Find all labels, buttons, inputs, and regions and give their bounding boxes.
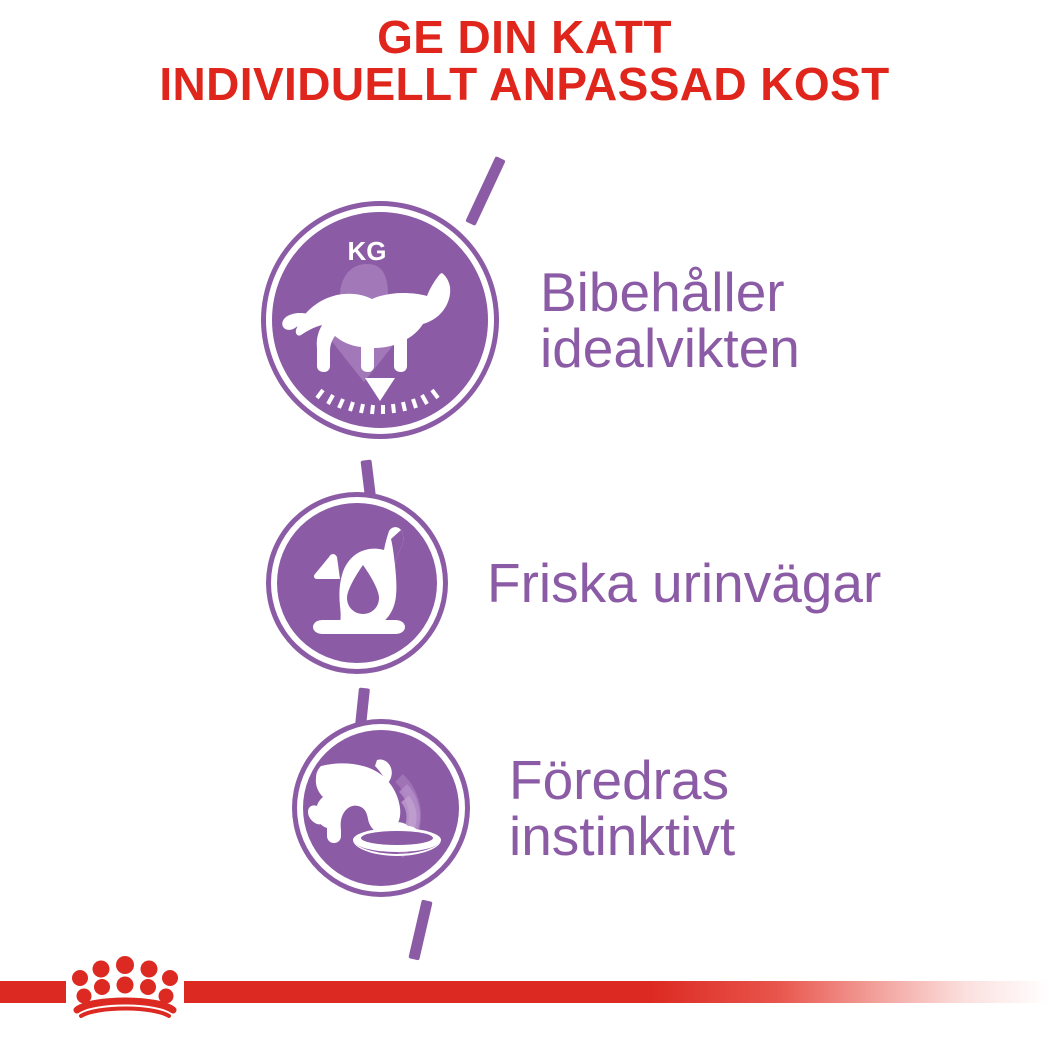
cat-with-water-droplet-icon <box>277 503 437 663</box>
feature-1-label: Bibehåller idealvikten <box>540 264 800 376</box>
feature-2-icon-circle <box>277 503 437 663</box>
title-line-2: INDIVIDUELLT ANPASSAD KOST <box>0 61 1049 108</box>
royal-canin-crown-logo <box>65 952 185 1022</box>
cat-on-weight-scale-icon: KG <box>272 212 488 428</box>
kg-badge-text: KG <box>348 236 387 266</box>
feature-2-label: Friska urinvägar <box>487 555 881 611</box>
feature-3-label: Föredras instinktivt <box>509 752 735 864</box>
cat-eating-from-bowl-icon <box>303 730 459 886</box>
feature-1-icon-circle: KG <box>272 212 488 428</box>
connector-dash-bottom <box>408 900 432 961</box>
connector-dash-1-2 <box>360 459 376 502</box>
page-title: GE DIN KATT INDIVIDUELLT ANPASSAD KOST <box>0 14 1049 109</box>
title-line-1: GE DIN KATT <box>0 14 1049 61</box>
crown-icon <box>65 952 185 1022</box>
feature-item-palatability: Föredras instinktivt <box>303 730 735 886</box>
feature-item-urinary-health: Friska urinvägar <box>277 503 881 663</box>
infographic-page: GE DIN KATT INDIVIDUELLT ANPASSAD KOST <box>0 0 1049 1049</box>
connector-dash-2-3 <box>355 688 370 727</box>
feature-3-icon-circle <box>303 730 459 886</box>
feature-item-ideal-weight: KG Bibehåller idealvikten <box>272 212 800 428</box>
